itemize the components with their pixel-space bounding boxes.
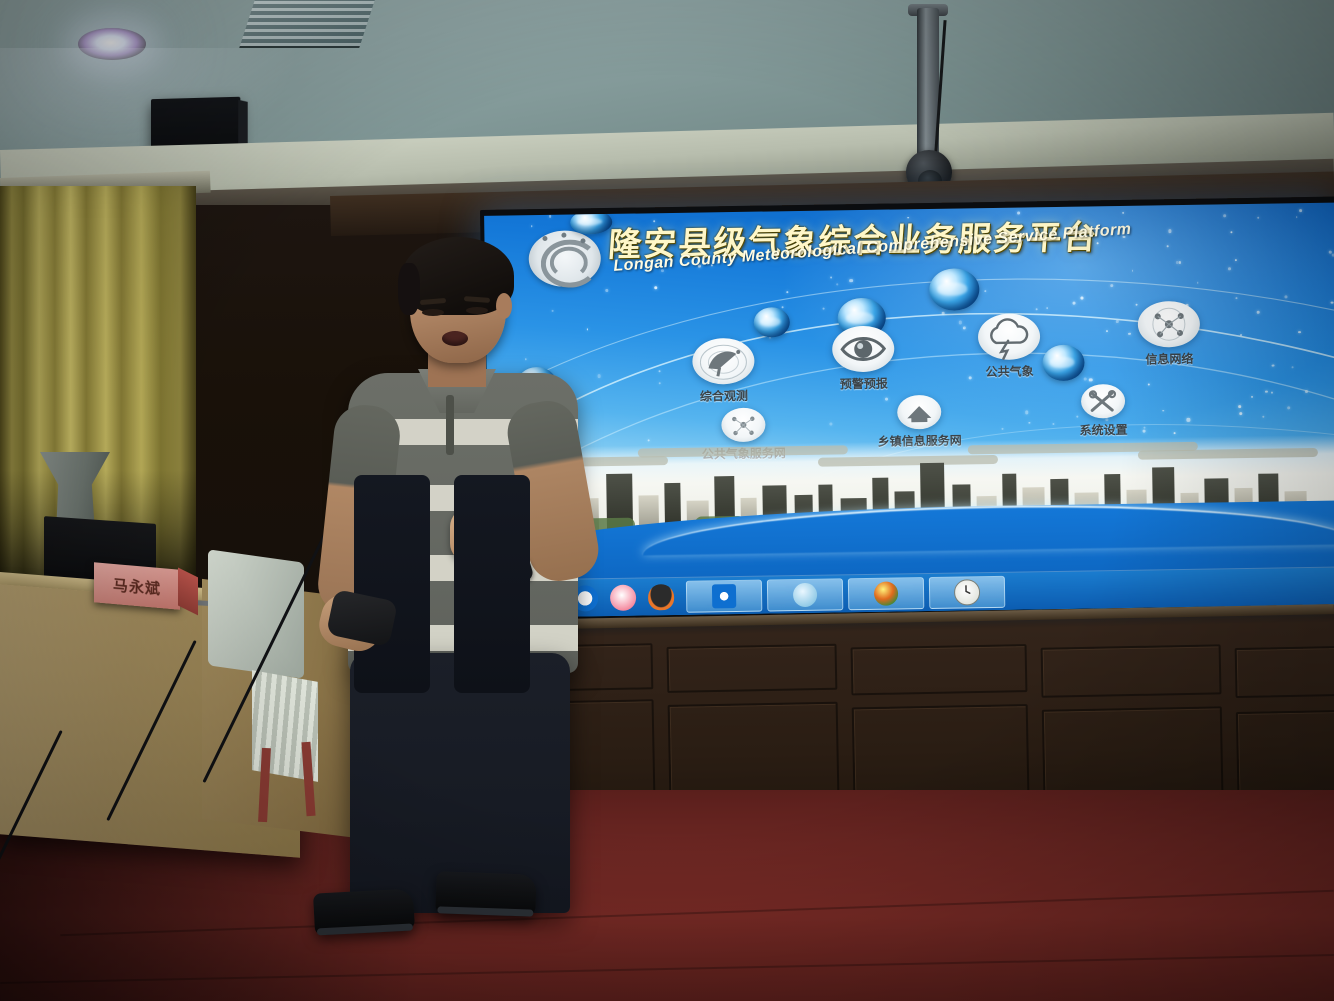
ceiling-vent (239, 0, 377, 48)
app-label: 公共气象 (972, 362, 1046, 380)
app-label: 预警预报 (827, 374, 901, 392)
eye-icon (832, 326, 895, 373)
globe-icon (793, 582, 817, 606)
conference-hall-photo: 隆安县级气象综合业务服务平台 Longan County Meteorologi… (0, 0, 1334, 1001)
network-nodes-icon (1138, 301, 1201, 348)
app-tile-public-meteorology[interactable]: 公共气象 (972, 313, 1047, 380)
network-nodes-icon (721, 408, 766, 443)
clock-icon (954, 579, 980, 605)
presenter-mouth (442, 331, 468, 346)
media-orb-icon (874, 581, 898, 605)
app-label: 综合观测 (687, 387, 761, 405)
teamviewer-window-button[interactable] (686, 579, 762, 612)
name-placard-text: 马永斌 (113, 573, 161, 598)
presenter-ear (496, 293, 512, 319)
app-tile-information-network[interactable]: 信息网络 (1132, 301, 1207, 368)
app-tile-comprehensive-observation[interactable]: 综合观测 (686, 338, 761, 405)
presenter-shoe (435, 871, 536, 916)
app-label: 信息网络 (1132, 350, 1206, 368)
app-tile-warning-forecast[interactable]: 预警预报 (826, 325, 901, 392)
presenter-shoe (313, 888, 415, 935)
app-label: 系统设置 (1043, 420, 1163, 439)
app-tile-system-settings[interactable]: 系统设置 (1043, 383, 1164, 439)
cloud-lightning-icon (978, 313, 1041, 360)
teamviewer-icon (712, 584, 736, 608)
satellite-dish-icon (692, 338, 755, 385)
qq-penguin-icon[interactable] (648, 584, 674, 610)
tools-icon (1081, 384, 1126, 419)
name-placard: 马永斌 (94, 562, 180, 610)
presenter (290, 245, 620, 945)
polo-placket (446, 395, 454, 455)
clock-window-button[interactable] (929, 575, 1005, 608)
home-icon (897, 395, 942, 430)
media-orb-window-button[interactable] (848, 577, 924, 610)
globe-window-button[interactable] (767, 578, 843, 611)
